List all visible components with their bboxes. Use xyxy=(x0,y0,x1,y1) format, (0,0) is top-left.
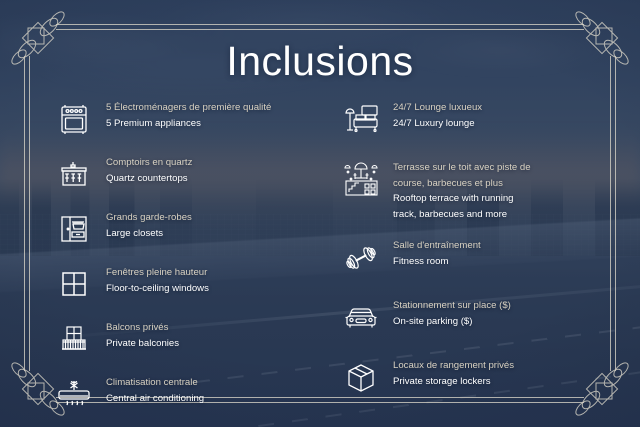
list-item-labels: Balcons privés Private balconies xyxy=(106,316,179,351)
list-item-labels: Climatisation centrale Central air condi… xyxy=(106,371,204,406)
label-french: Grands garde-robes xyxy=(106,210,192,226)
frame-top-line-inner xyxy=(56,29,584,30)
label-english: Quartz countertops xyxy=(106,171,192,187)
stove-icon xyxy=(52,96,96,142)
label-french: Comptoirs en quartz xyxy=(106,155,192,171)
frame-left-line-outer xyxy=(24,56,25,371)
label-french: Terrasse sur le toit avec piste de cours… xyxy=(393,160,531,191)
label-english: Private balconies xyxy=(106,336,179,352)
list-item: Salle d'entraînement Fitness room xyxy=(339,234,600,282)
left-column: 5 Électroménagers de première qualité 5 … xyxy=(52,96,313,426)
list-item: Climatisation centrale Central air condi… xyxy=(52,371,313,417)
label-french: 24/7 Lounge luxueux xyxy=(393,100,482,116)
list-item: Stationnement sur place ($) On-site park… xyxy=(339,294,600,342)
list-item: Fenêtres pleine hauteur Floor-to-ceiling… xyxy=(52,261,313,307)
list-item-labels: Locaux de rangement privés Private stora… xyxy=(393,354,514,389)
label-english: Central air conditioning xyxy=(106,391,204,407)
label-english: Fitness room xyxy=(393,254,481,270)
list-item: Locaux de rangement privés Private stora… xyxy=(339,354,600,402)
car-icon xyxy=(339,294,383,342)
window-icon xyxy=(52,261,96,307)
lounge-sofa-icon xyxy=(339,96,383,144)
label-french: Climatisation centrale xyxy=(106,375,204,391)
frame-left-line-inner xyxy=(29,56,30,371)
label-english: On-site parking ($) xyxy=(393,314,511,330)
list-item: Terrasse sur le toit avec piste de cours… xyxy=(339,156,600,222)
list-item-labels: Salle d'entraînement Fitness room xyxy=(393,234,481,269)
list-item: Comptoirs en quartz Quartz countertops xyxy=(52,151,313,197)
air-conditioner-icon xyxy=(52,371,96,417)
closet-icon xyxy=(52,206,96,252)
label-french: 5 Électroménagers de première qualité xyxy=(106,100,271,116)
frame-top-line-outer xyxy=(56,24,584,25)
inclusions-slide: Inclusions 5 Électroména xyxy=(0,0,640,427)
list-item-labels: Fenêtres pleine hauteur Floor-to-ceiling… xyxy=(106,261,209,296)
label-english: Rooftop terrace with running track, barb… xyxy=(393,191,531,222)
list-item: 24/7 Lounge luxueux 24/7 Luxury lounge xyxy=(339,96,600,144)
list-item-labels: 24/7 Lounge luxueux 24/7 Luxury lounge xyxy=(393,96,482,131)
list-item-labels: Terrasse sur le toit avec piste de cours… xyxy=(393,156,531,222)
balcony-icon xyxy=(52,316,96,362)
label-french: Locaux de rangement privés xyxy=(393,358,514,374)
label-french: Balcons privés xyxy=(106,320,179,336)
rooftop-terrace-icon xyxy=(339,156,383,204)
label-french: Fenêtres pleine hauteur xyxy=(106,265,209,281)
label-english: 5 Premium appliances xyxy=(106,116,271,132)
label-french: Stationnement sur place ($) xyxy=(393,298,511,314)
inclusions-columns: 5 Électroménagers de première qualité 5 … xyxy=(52,96,600,426)
list-item-labels: Grands garde-robes Large closets xyxy=(106,206,192,241)
right-column: 24/7 Lounge luxueux 24/7 Luxury lounge xyxy=(339,96,600,426)
box-icon xyxy=(339,354,383,402)
label-english: Private storage lockers xyxy=(393,374,514,390)
frame-right-line-outer xyxy=(615,56,616,371)
list-item: 5 Électroménagers de première qualité 5 … xyxy=(52,96,313,142)
frame-right-line-inner xyxy=(610,56,611,371)
label-english: Large closets xyxy=(106,226,192,242)
label-english: Floor-to-ceiling windows xyxy=(106,281,209,297)
list-item-labels: Stationnement sur place ($) On-site park… xyxy=(393,294,511,329)
dumbbell-icon xyxy=(339,234,383,282)
label-english: 24/7 Luxury lounge xyxy=(393,116,482,132)
list-item-labels: 5 Électroménagers de première qualité 5 … xyxy=(106,96,271,131)
list-item-labels: Comptoirs en quartz Quartz countertops xyxy=(106,151,192,186)
list-item: Balcons privés Private balconies xyxy=(52,316,313,362)
page-title: Inclusions xyxy=(0,38,640,85)
kitchen-island-icon xyxy=(52,151,96,197)
list-item: Grands garde-robes Large closets xyxy=(52,206,313,252)
label-french: Salle d'entraînement xyxy=(393,238,481,254)
